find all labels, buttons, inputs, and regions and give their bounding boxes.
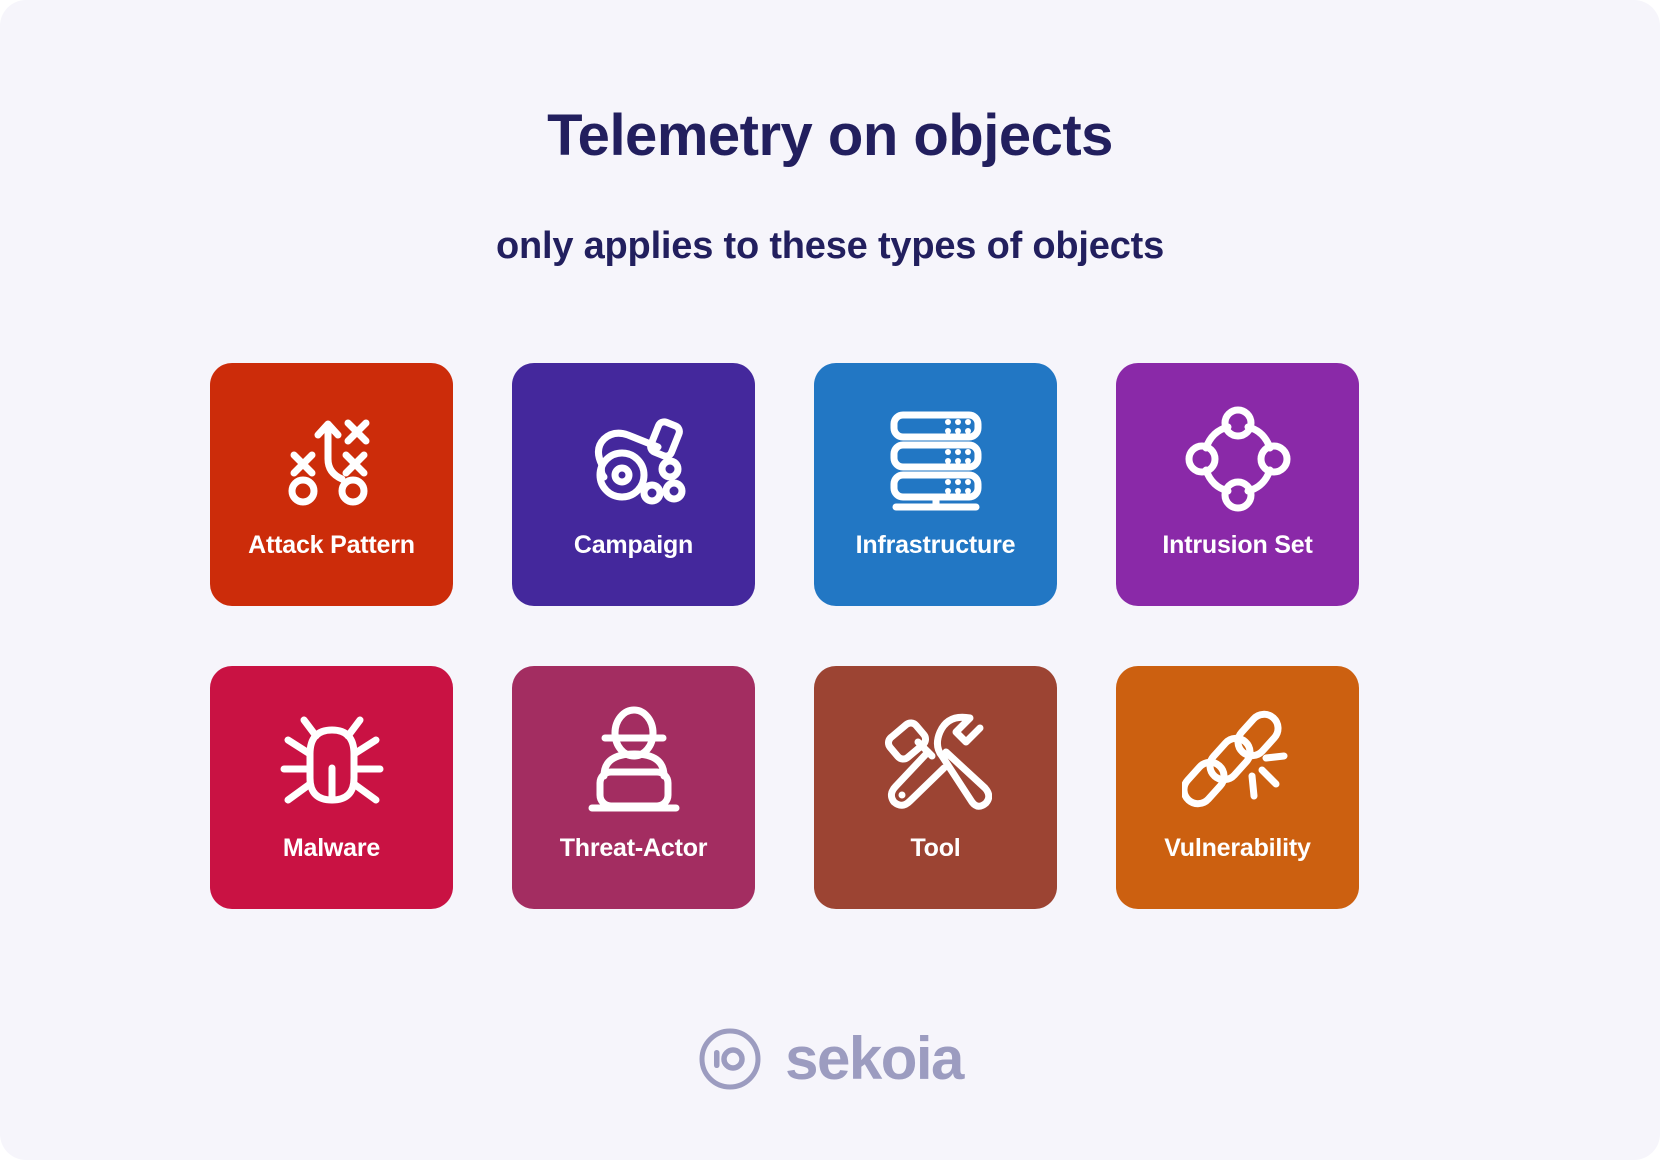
object-card-label: Malware [210,834,453,863]
object-card-label: Intrusion Set [1116,531,1359,560]
object-card-campaign[interactable]: Campaign [512,363,755,606]
server-rack-icon [876,399,996,519]
object-card-intrusion-set[interactable]: Intrusion Set [1116,363,1359,606]
object-card-tool[interactable]: Tool [814,666,1057,909]
brand-name: sekoia [785,1029,963,1089]
object-card-infrastructure[interactable]: Infrastructure [814,363,1057,606]
object-card-label: Campaign [512,531,755,560]
object-card-label: Tool [814,834,1057,863]
broken-chain-icon [1178,702,1298,822]
object-card-label: Threat-Actor [512,834,755,863]
sekoia-io-circle-logo [697,1026,763,1092]
object-card-malware[interactable]: Malware [210,666,453,909]
object-type-grid: Attack Pattern Campaign [210,363,1370,909]
poster-canvas: Telemetry on objects only applies to the… [0,0,1660,1160]
network-nodes-icon [1178,399,1298,519]
strategy-playbook-icon [272,399,392,519]
object-card-label: Vulnerability [1116,834,1359,863]
bug-icon [272,702,392,822]
object-card-label: Infrastructure [814,531,1057,560]
brand-logo: sekoia [0,1026,1660,1092]
cannon-icon [574,399,694,519]
page-title: Telemetry on objects [0,104,1660,168]
object-card-threat-actor[interactable]: Threat-Actor [512,666,755,909]
object-card-attack-pattern[interactable]: Attack Pattern [210,363,453,606]
object-card-vulnerability[interactable]: Vulnerability [1116,666,1359,909]
page-subtitle: only applies to these types of objects [0,225,1660,268]
hammer-wrench-icon [876,702,996,822]
hacker-icon [574,702,694,822]
object-card-label: Attack Pattern [210,531,453,560]
